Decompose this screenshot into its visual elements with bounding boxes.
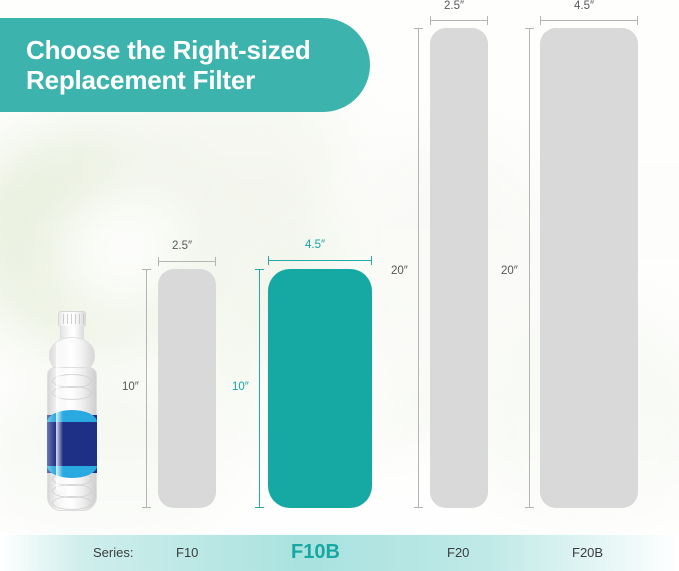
dimension-label-width-f20: 2.5″	[444, 0, 464, 12]
bottle-cap	[58, 311, 86, 327]
dimension-label-height-f20b: 20″	[501, 265, 518, 277]
series-label-f20b: F20B	[572, 534, 603, 571]
filter-body-f20	[430, 28, 488, 508]
series-label-f10b: F10B	[291, 534, 340, 571]
filter-body-f10	[158, 269, 216, 508]
bottle-highlight	[56, 341, 63, 491]
dimension-line-width-f10	[158, 257, 216, 266]
dimension-line-height-f20b	[525, 28, 534, 508]
dimension-line-height-f10b	[255, 269, 264, 508]
series-row-label: Series:	[93, 534, 133, 571]
filter-shape-f10	[158, 269, 216, 508]
water-bottle-reference	[44, 311, 100, 511]
filter-shape-f10b	[268, 269, 372, 508]
filter-body-f10b	[268, 269, 372, 508]
dimension-line-height-f20	[414, 28, 423, 508]
series-band: Series: F10 F10B F20 F20B	[0, 534, 679, 571]
dimension-line-width-f20b	[540, 16, 638, 25]
header-banner: Choose the Right-sized Replacement Filte…	[0, 18, 370, 112]
dimension-label-width-f10: 2.5″	[172, 240, 192, 252]
dimension-label-height-f20: 20″	[391, 265, 408, 277]
bottle-label	[47, 415, 97, 473]
dimension-line-height-f10	[142, 269, 151, 508]
dimension-line-width-f20	[430, 16, 488, 25]
dimension-label-height-f10b: 10″	[232, 381, 249, 393]
dimension-line-width-f10b	[268, 256, 372, 265]
filter-body-f20b	[540, 28, 638, 508]
bottle-label-gloss	[47, 415, 56, 473]
dimension-label-width-f10b: 4.5″	[305, 239, 325, 251]
filter-shape-f20b	[540, 28, 638, 508]
dimension-label-width-f20b: 4.5″	[574, 0, 594, 12]
dimension-label-height-f10: 10″	[122, 381, 139, 393]
page-title: Choose the Right-sized Replacement Filte…	[26, 35, 311, 95]
page-title-line-1: Choose the Right-sized	[26, 35, 311, 65]
filter-shape-f20	[430, 28, 488, 508]
series-label-f10: F10	[176, 534, 198, 571]
series-label-f20: F20	[447, 534, 469, 571]
page-title-line-2: Replacement Filter	[26, 65, 311, 95]
